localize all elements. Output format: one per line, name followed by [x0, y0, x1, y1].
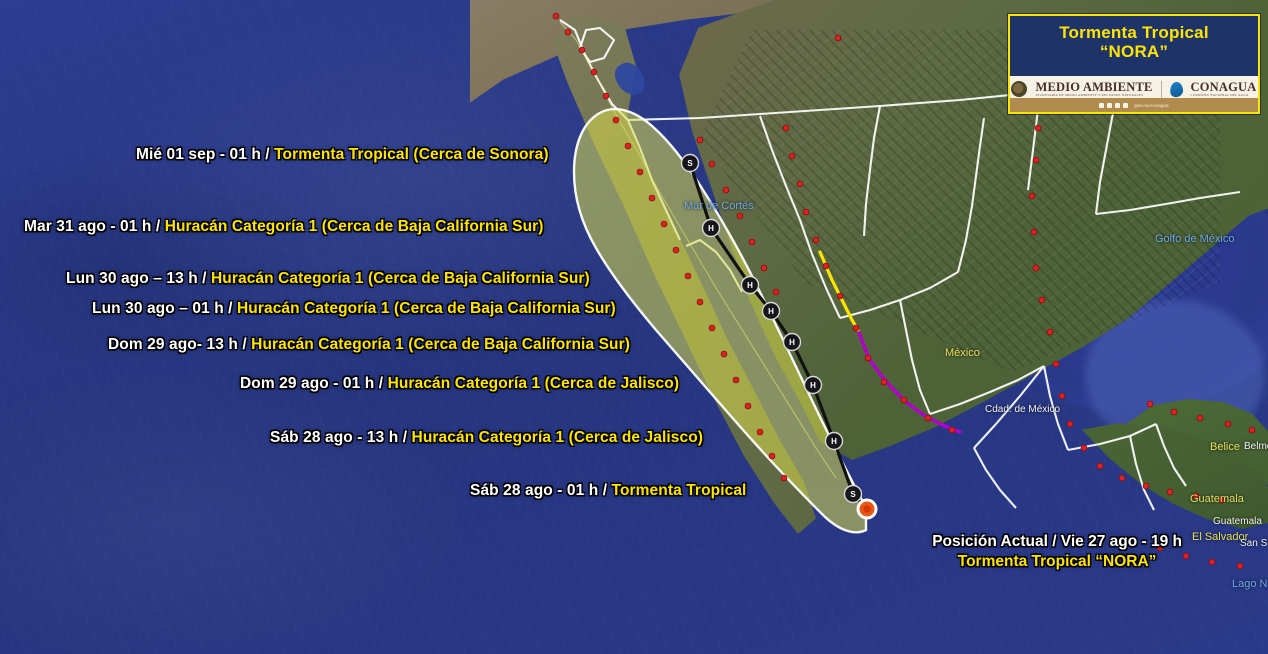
svg-text:H: H [747, 281, 753, 290]
current-position-line1: Posición Actual / Vie 27 ago - 19 h [932, 533, 1182, 550]
storm-title-line1: Tormenta Tropical [1010, 23, 1258, 42]
medio-ambiente-wordmark: MEDIO AMBIENTE SECRETARÍA DE MEDIO AMBIE… [1035, 81, 1152, 98]
forecast-label-7: Sáb 28 ago - 01 h / Tormenta Tropical [470, 482, 746, 500]
agency2-subtitle: COMISIÓN NACIONAL DEL AGUA [1191, 94, 1257, 97]
svg-text:H: H [831, 437, 837, 446]
forecast-time-2: Lun 30 ago – 13 h / [66, 270, 211, 287]
track-marker: H [703, 220, 720, 237]
forecast-time-1: Mar 31 ago - 01 h / [24, 218, 165, 235]
svg-text:H: H [789, 338, 795, 347]
forecast-status-7: Tormenta Tropical [612, 482, 747, 499]
forecast-status-0: Tormenta Tropical (Cerca de Sonora) [274, 146, 549, 163]
forecast-time-6: Sáb 28 ago - 13 h / [270, 429, 412, 446]
forecast-status-1: Huracán Categoría 1 (Cerca de Baja Calif… [165, 218, 544, 235]
forecast-time-4: Dom 29 ago- 13 h / [108, 336, 251, 353]
current-position-line2: Tormenta Tropical “NORA” [958, 553, 1157, 570]
track-marker: H [826, 433, 843, 450]
conagua-wordmark: CONAGUA COMISIÓN NACIONAL DEL AGUA [1191, 81, 1257, 98]
forecast-cone-of-uncertainty [574, 109, 866, 532]
hurricane-forecast-map: S H H H H H H S Mar de Cortés Golfo de M… [0, 0, 1268, 654]
forecast-label-4: Dom 29 ago- 13 h / Huracán Categoría 1 (… [108, 336, 630, 354]
forecast-time-3: Lun 30 ago – 01 h / [92, 300, 237, 317]
track-marker: H [763, 303, 780, 320]
current-position-label: Posición Actual / Vie 27 ago - 19 h Torm… [932, 532, 1182, 572]
youtube-icon[interactable] [1123, 103, 1128, 108]
storm-title-line2: “NORA” [1010, 42, 1258, 61]
forecast-time-7: Sáb 28 ago - 01 h / [470, 482, 612, 499]
track-marker: S [845, 486, 862, 503]
forecast-status-4: Huracán Categoría 1 (Cerca de Baja Calif… [251, 336, 630, 353]
forecast-label-3: Lun 30 ago – 01 h / Huracán Categoría 1 … [92, 300, 616, 318]
forecast-status-2: Huracán Categoría 1 (Cerca de Baja Calif… [211, 270, 590, 287]
conagua-water-drop-icon [1169, 80, 1183, 98]
svg-text:H: H [768, 307, 774, 316]
forecast-time-0: Mié 01 sep - 01 h / [136, 146, 274, 163]
forecast-status-3: Huracán Categoría 1 (Cerca de Baja Calif… [237, 300, 616, 317]
storm-title-card: Tormenta Tropical “NORA” MEDIO AMBIENTE … [1008, 14, 1260, 114]
track-marker: H [784, 334, 801, 351]
current-position-marker [857, 499, 878, 520]
svg-text:H: H [810, 381, 816, 390]
storm-title: Tormenta Tropical “NORA” [1010, 16, 1258, 61]
forecast-label-1: Mar 31 ago - 01 h / Huracán Categoría 1 … [24, 218, 544, 236]
agency-url[interactable]: gob.mx/conagua [1134, 103, 1169, 108]
twitter-icon[interactable] [1107, 103, 1112, 108]
svg-text:S: S [687, 159, 693, 168]
instagram-icon[interactable] [1115, 103, 1120, 108]
forecast-label-6: Sáb 28 ago - 13 h / Huracán Categoría 1 … [270, 429, 703, 447]
social-media-bar: gob.mx/conagua [1010, 98, 1258, 112]
agency1-name: MEDIO AMBIENTE [1035, 80, 1152, 94]
forecast-status-6: Huracán Categoría 1 (Cerca de Jalisco) [412, 429, 704, 446]
track-marker: H [742, 277, 759, 294]
forecast-time-5: Dom 29 ago - 01 h / [240, 375, 388, 392]
forecast-label-5: Dom 29 ago - 01 h / Huracán Categoría 1 … [240, 375, 679, 393]
track-marker: H [805, 377, 822, 394]
forecast-status-5: Huracán Categoría 1 (Cerca de Jalisco) [388, 375, 680, 392]
track-marker: S [682, 155, 699, 172]
facebook-icon[interactable] [1099, 103, 1104, 108]
mexico-eagle-seal-icon [1011, 81, 1027, 97]
agency1-subtitle: SECRETARÍA DE MEDIO AMBIENTE Y RECURSOS … [1035, 94, 1152, 97]
forecast-label-0: Mié 01 sep - 01 h / Tormenta Tropical (C… [136, 146, 549, 164]
forecast-label-2: Lun 30 ago – 13 h / Huracán Categoría 1 … [66, 270, 590, 288]
svg-text:H: H [708, 224, 714, 233]
logo-divider [1161, 81, 1162, 98]
svg-text:S: S [850, 490, 856, 499]
agency2-name: CONAGUA [1191, 80, 1257, 94]
